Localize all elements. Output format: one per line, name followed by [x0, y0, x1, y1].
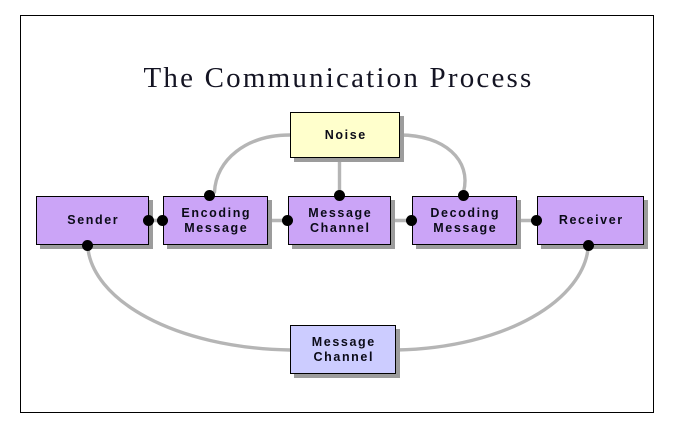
- junction-dot-sender-right: [143, 215, 154, 226]
- junction-dot-decoding-left: [406, 215, 417, 226]
- junction-dot-receiver-left: [531, 215, 542, 226]
- node-encoding-message-label: Encoding Message: [180, 206, 251, 236]
- node-receiver-label: Receiver: [557, 213, 624, 228]
- node-encoding-message[interactable]: Encoding Message: [163, 196, 268, 245]
- node-sender[interactable]: Sender: [36, 196, 149, 245]
- connector-noise-to-decoding: [400, 135, 465, 192]
- node-message-channel-top[interactable]: Message Channel: [288, 196, 391, 245]
- node-receiver[interactable]: Receiver: [537, 196, 644, 245]
- node-message-channel-bottom[interactable]: Message Channel: [290, 325, 396, 374]
- junction-dot-channel-left: [282, 215, 293, 226]
- node-message-channel-top-label: Message Channel: [307, 206, 373, 236]
- node-decoding-message-label: Decoding Message: [429, 206, 500, 236]
- node-noise[interactable]: Noise: [290, 112, 400, 158]
- connector-receiver-feedback: [396, 244, 589, 350]
- junction-dot-encoding-top: [204, 190, 215, 201]
- junction-dot-encoding-left: [157, 215, 168, 226]
- junction-dot-receiver-bottom: [583, 240, 594, 251]
- diagram-canvas: The Communication Process Noise Sender E…: [0, 0, 677, 436]
- node-decoding-message[interactable]: Decoding Message: [412, 196, 517, 245]
- connector-sender-feedback: [88, 244, 291, 350]
- node-message-channel-bottom-label: Message Channel: [310, 335, 376, 365]
- junction-dot-decoding-top: [458, 190, 469, 201]
- junction-dot-sender-bottom: [82, 240, 93, 251]
- connector-noise-to-encoding: [215, 135, 291, 192]
- junction-dot-channel-top: [334, 190, 345, 201]
- node-sender-label: Sender: [66, 213, 120, 228]
- node-noise-label: Noise: [323, 128, 367, 143]
